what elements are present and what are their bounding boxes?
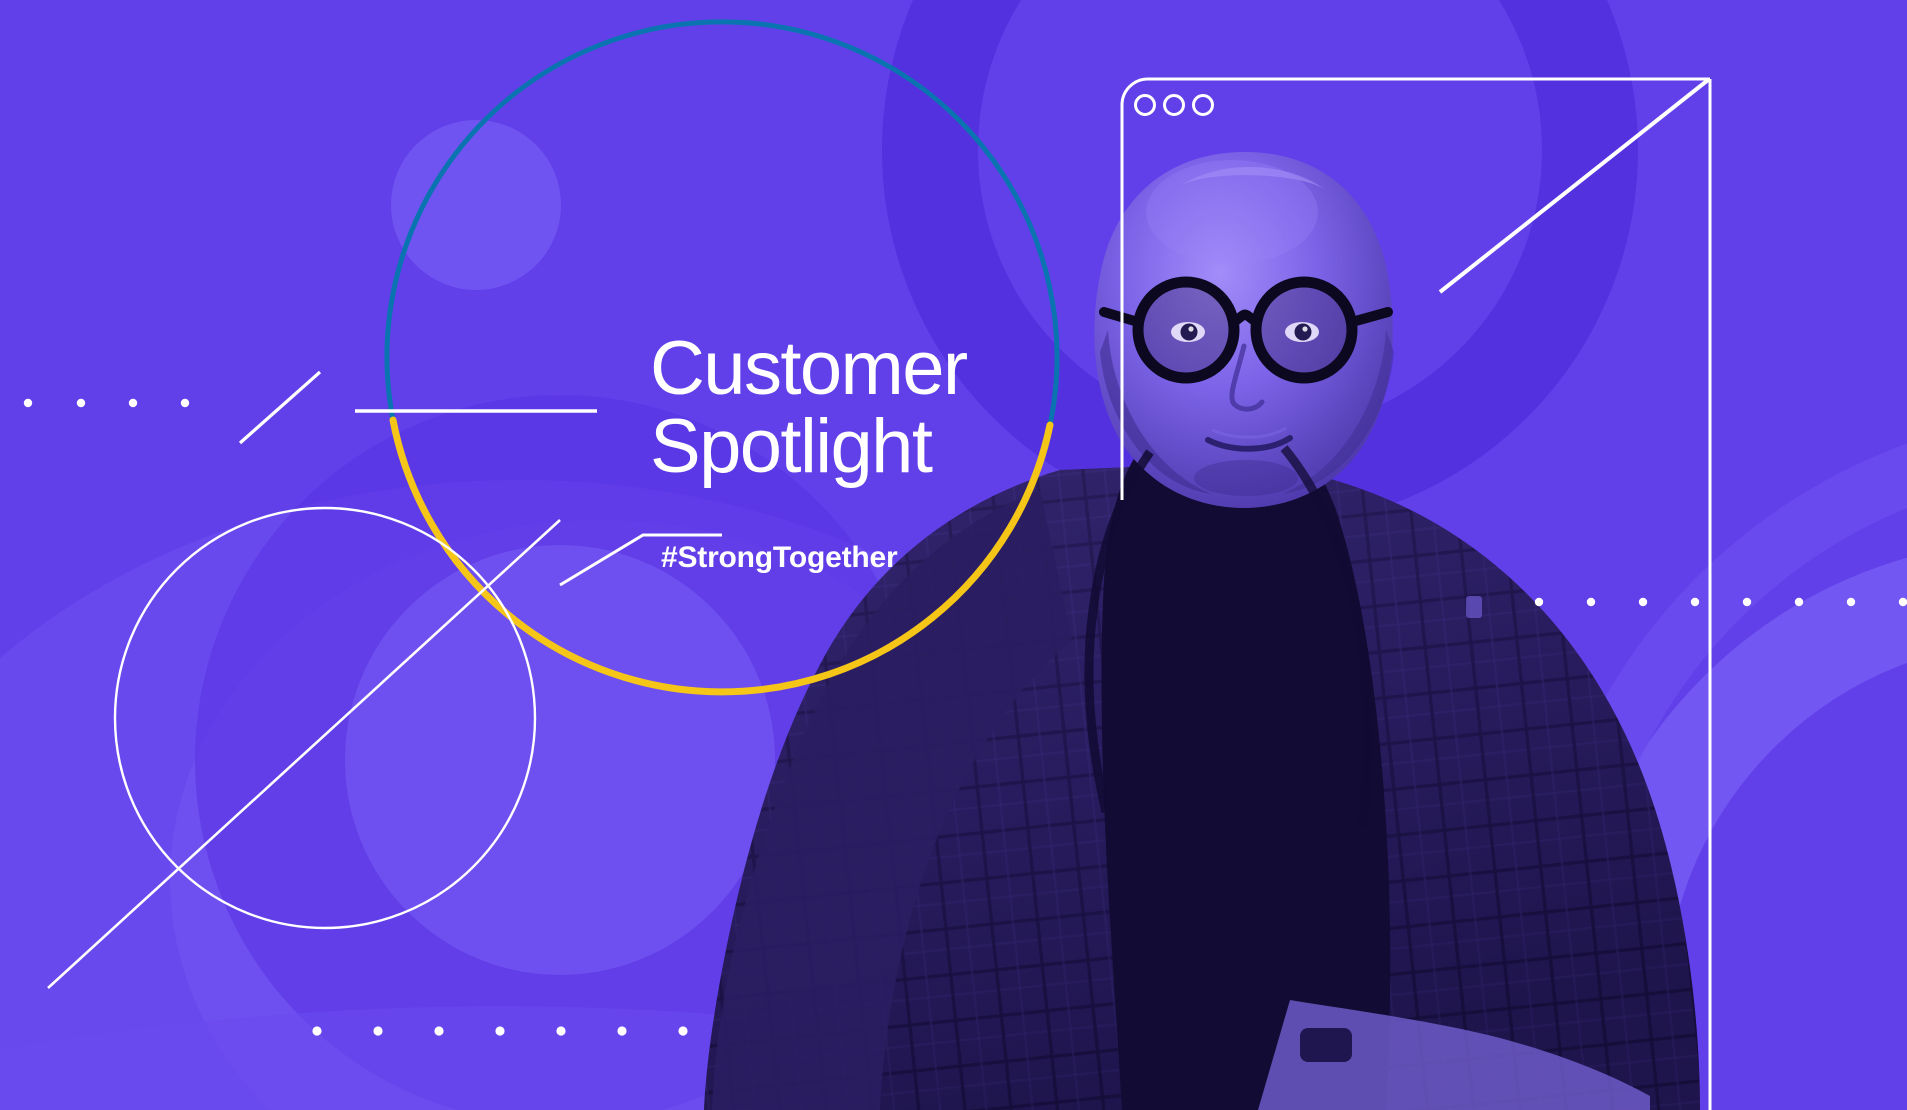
elbow-line [560, 535, 722, 585]
window-dot-1 [1136, 96, 1155, 115]
accent-ring-teal [387, 22, 1057, 425]
foreground-decor-layer [0, 0, 1907, 1110]
window-dot-3 [1194, 96, 1213, 115]
accent-ring-yellow [393, 420, 1050, 692]
long-diagonal-line [48, 520, 560, 988]
hero-banner: Customer Spotlight #StrongTogether [0, 0, 1907, 1110]
window-dot-2 [1165, 96, 1184, 115]
outline-circle-lower-left [115, 508, 535, 928]
dot-row-right [1535, 598, 1907, 606]
browser-frame-diagonal [1440, 80, 1708, 292]
short-diagonal-tick [240, 372, 320, 443]
browser-window-frame [1122, 79, 1710, 1110]
dot-row-bottom [312, 1026, 687, 1035]
accent-ring [387, 22, 1057, 692]
dot-row-left [24, 399, 189, 407]
